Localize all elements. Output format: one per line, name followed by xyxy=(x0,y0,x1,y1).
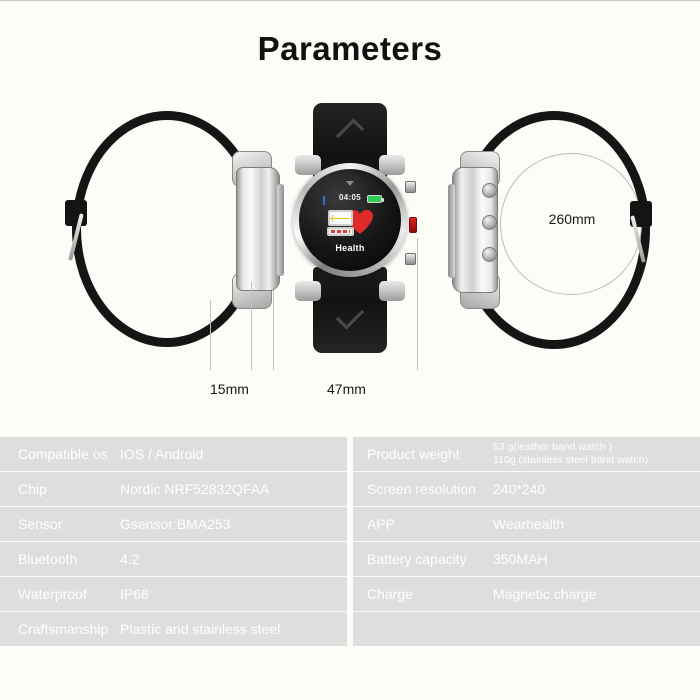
watch-strap-bottom xyxy=(313,267,387,353)
spec-key: Screen resolution xyxy=(353,481,493,497)
strap-chevron-up-icon xyxy=(336,118,364,146)
spec-value: Wearhealth xyxy=(493,516,564,532)
spec-cell-left: ChipNordic NRF52832QFAA xyxy=(0,472,347,506)
leader-line-diameter-a xyxy=(273,290,274,370)
spec-value: 4.2 xyxy=(120,551,139,567)
side-button-2 xyxy=(482,215,497,230)
spec-key: Compatible os xyxy=(0,446,120,462)
spec-key: Waterproof xyxy=(0,586,120,602)
spec-value: IOS / Android xyxy=(120,446,203,462)
spec-value: Plastic and stainless steel xyxy=(120,621,280,637)
crown-button-top xyxy=(405,181,416,193)
table-row: ChipNordic NRF52832QFAAScreen resolution… xyxy=(0,472,700,506)
right-side-profile: 260mm xyxy=(440,105,660,355)
page-title: Parameters xyxy=(0,30,700,68)
spec-key: Battery capacity xyxy=(353,551,493,567)
watch-lug-bottom-left-front xyxy=(295,281,321,301)
dimension-label-diameter: 47mm xyxy=(327,381,366,397)
spec-cell-right xyxy=(353,612,700,646)
left-side-profile xyxy=(60,105,280,355)
spec-key: Sensor xyxy=(0,516,120,532)
dimension-label-circumference: 260mm xyxy=(502,211,642,227)
spec-cell-right: APPWearhealth xyxy=(353,507,700,541)
spec-key: Craftsmanship xyxy=(0,621,120,637)
dimension-label-thickness: 15mm xyxy=(210,381,249,397)
leader-line-thickness-b xyxy=(251,282,252,370)
watch-screen: 04:05 Health xyxy=(304,174,396,266)
battery-icon xyxy=(367,195,382,203)
band-buckle-left xyxy=(65,200,87,226)
spec-cell-left: CraftsmanshipPlastic and stainless steel xyxy=(0,612,347,646)
product-views: 04:05 Health 260mm xyxy=(0,95,700,415)
spec-cell-right: Battery capacity350MAH xyxy=(353,542,700,576)
spec-cell-right: Screen resolution240*240 xyxy=(353,472,700,506)
spec-key: Bluetooth xyxy=(0,551,120,567)
table-row: Bluetooth4.2Battery capacity350MAH xyxy=(0,542,700,576)
spec-cell-left: SensorGsensor:BMA253 xyxy=(0,507,347,541)
spec-value: Gsensor:BMA253 xyxy=(120,516,231,532)
spec-key: Charge xyxy=(353,586,493,602)
spec-value: 53 g(leather band watch )110g (stainless… xyxy=(493,441,648,467)
spec-key: Product weight xyxy=(353,446,493,462)
bezel-marker-icon xyxy=(346,181,354,186)
spec-table: Compatible osIOS / AndroidProduct weight… xyxy=(0,437,700,647)
table-row: WaterproofIP68ChargeMagnetic charge xyxy=(0,577,700,611)
front-view: 04:05 Health xyxy=(287,103,413,353)
spec-cell-right: ChargeMagnetic charge xyxy=(353,577,700,611)
spec-value: Magnetic charge xyxy=(493,586,597,602)
table-row: CraftsmanshipPlastic and stainless steel xyxy=(0,612,700,646)
ecg-monitor-icon xyxy=(327,210,354,236)
spec-key: Chip xyxy=(0,481,120,497)
leader-line-diameter-b xyxy=(417,238,418,370)
spec-value: Nordic NRF52832QFAA xyxy=(120,481,269,497)
spec-cell-left: Bluetooth4.2 xyxy=(0,542,347,576)
watch-app-label: Health xyxy=(304,243,396,253)
side-button-3 xyxy=(482,247,497,262)
crown-button-accent xyxy=(409,217,417,233)
watch-band-loop-left xyxy=(72,111,262,347)
spec-key: APP xyxy=(353,516,493,532)
side-button-1 xyxy=(482,183,497,198)
spec-value: 350MAH xyxy=(493,551,547,567)
watch-lug-top-right-front xyxy=(379,155,405,175)
crown-button-bottom xyxy=(405,253,416,265)
strap-chevron-down-icon xyxy=(336,301,364,329)
spec-cell-right: Product weight53 g(leather band watch )1… xyxy=(353,437,700,471)
watch-case-side-left xyxy=(236,167,280,291)
leader-line-thickness-a xyxy=(210,300,211,370)
table-row: Compatible osIOS / AndroidProduct weight… xyxy=(0,437,700,471)
spec-value: IP68 xyxy=(120,586,149,602)
spec-cell-left: Compatible osIOS / Android xyxy=(0,437,347,471)
watch-lug-bottom-right-front xyxy=(379,281,405,301)
top-divider xyxy=(0,0,700,1)
spec-cell-left: WaterproofIP68 xyxy=(0,577,347,611)
watch-bezel: 04:05 Health xyxy=(293,163,407,277)
table-row: SensorGsensor:BMA253APPWearhealth xyxy=(0,507,700,541)
spec-value: 240*240 xyxy=(493,481,545,497)
